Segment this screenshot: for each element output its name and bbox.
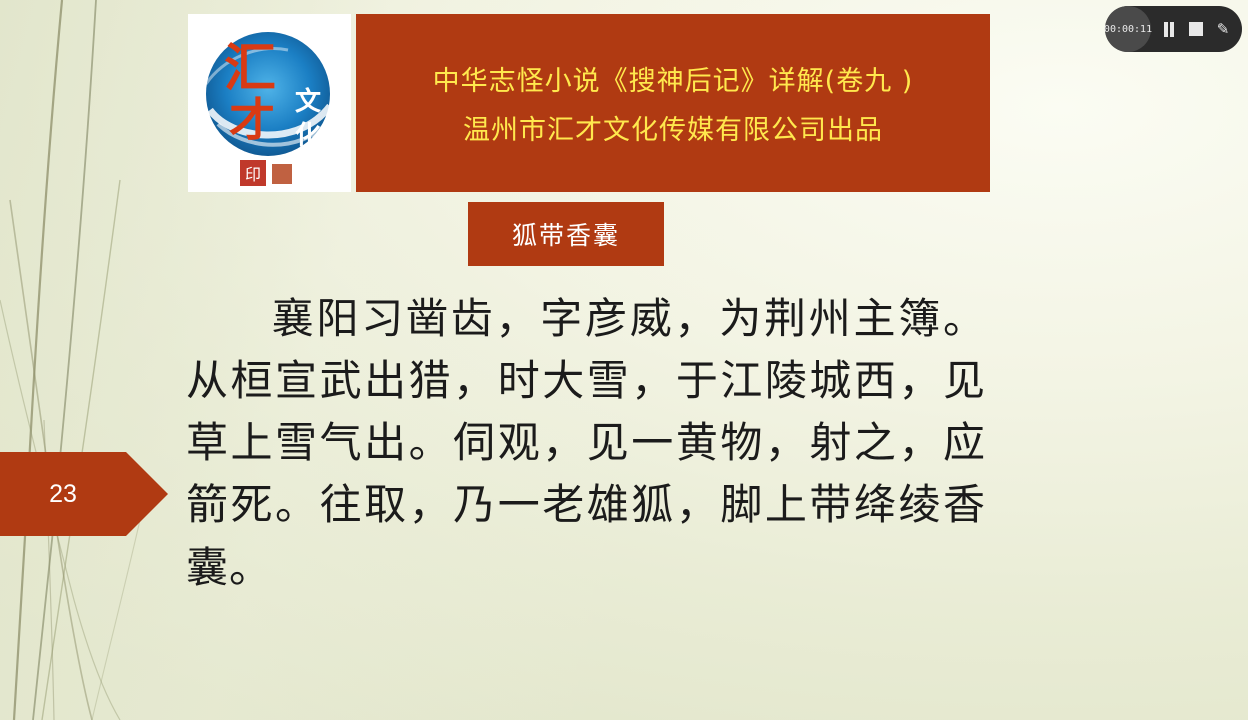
svg-text:文: 文 xyxy=(295,86,322,117)
svg-text:印: 印 xyxy=(245,165,261,184)
pencil-icon[interactable]: ✎ xyxy=(1214,20,1232,38)
pause-icon[interactable] xyxy=(1160,20,1178,38)
svg-text:才: 才 xyxy=(229,93,275,147)
page-number-label: 23 xyxy=(0,452,126,536)
stop-icon[interactable] xyxy=(1187,20,1205,38)
title-line-2: 温州市汇才文化传媒有限公司出品 xyxy=(463,108,883,147)
company-logo: 汇 才 文 化 印 xyxy=(188,14,351,192)
slide-canvas: 汇 才 文 化 印 中华志怪小说《搜神后记》详解(卷九 ) 温州市汇才文化传媒有… xyxy=(0,0,1248,720)
title-line-1: 中华志怪小说《搜神后记》详解(卷九 ) xyxy=(433,59,914,98)
body-paragraph: 襄阳习凿齿，字彦威，为荆州主簿。从桓宣武出猎，时大雪，于江陵城西，见草上雪气出。… xyxy=(186,288,986,599)
page-number-tag: 23 xyxy=(0,452,168,536)
screen-recorder-toolbar[interactable]: 00:00:11 ✎ xyxy=(1105,6,1242,52)
section-title: 狐带香囊 xyxy=(468,202,664,266)
huicai-culture-logo-icon: 汇 才 文 化 印 xyxy=(188,14,351,192)
title-banner: 中华志怪小说《搜神后记》详解(卷九 ) 温州市汇才文化传媒有限公司出品 xyxy=(356,14,990,192)
svg-text:化: 化 xyxy=(295,121,321,151)
svg-text:汇: 汇 xyxy=(224,39,276,99)
body-paragraph-text: 襄阳习凿齿，字彦威，为荆州主簿。从桓宣武出猎，时大雪，于江陵城西，见草上雪气出。… xyxy=(186,294,986,592)
recording-elapsed-time: 00:00:11 xyxy=(1105,6,1151,52)
